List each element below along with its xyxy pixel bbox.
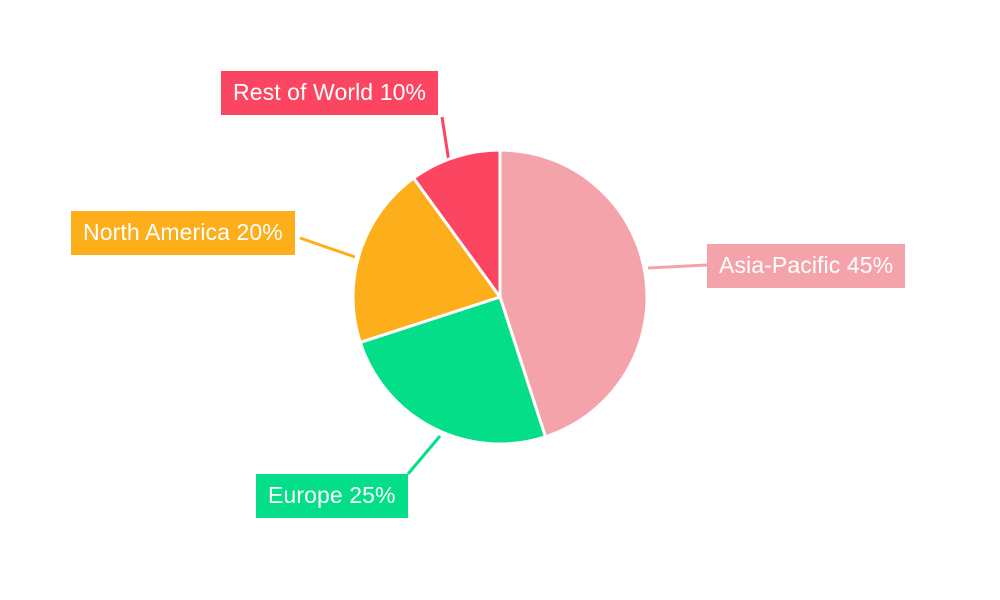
pie-slice-group: [353, 150, 647, 444]
leader-line-asia-pacific: [648, 265, 707, 268]
slice-label-north-america: North America 20%: [71, 211, 295, 255]
leader-line-europe: [408, 436, 440, 474]
pie-chart-figure: Asia-Pacific 45% Europe 25% North Americ…: [0, 0, 1000, 600]
slice-label-rest-of-world: Rest of World 10%: [221, 71, 438, 115]
pie-chart-canvas: [0, 0, 1000, 600]
slice-label-europe: Europe 25%: [256, 474, 408, 518]
slice-label-asia-pacific: Asia-Pacific 45%: [707, 244, 905, 288]
leader-line-north-america: [300, 238, 355, 257]
